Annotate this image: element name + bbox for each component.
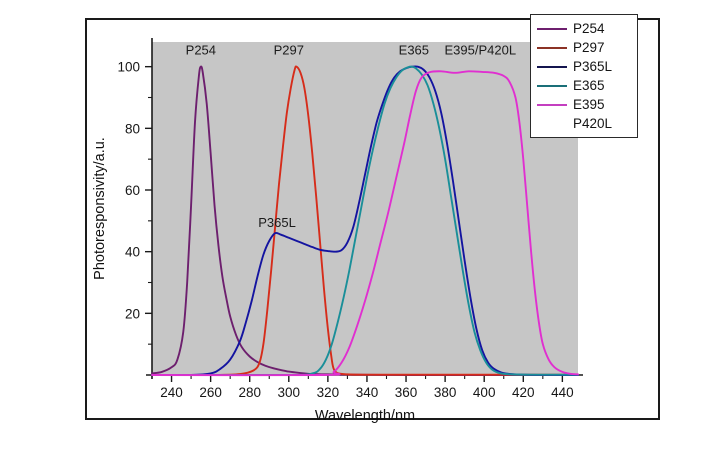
legend-item-p365l[interactable]: P365L	[535, 57, 633, 76]
x-tick-label: 380	[434, 385, 457, 400]
annotation-e365: E365	[399, 42, 429, 57]
y-axis-title: Photoresponsivity/a.u.	[92, 137, 108, 280]
legend-item-p420l[interactable]: P420L	[535, 114, 633, 133]
y-tick-label: 40	[125, 245, 140, 260]
x-tick-label: 300	[278, 385, 301, 400]
legend-label: P420L	[573, 117, 612, 131]
annotation-p254: P254	[186, 42, 216, 57]
y-axis-tick-labels: 20406080100	[117, 60, 140, 322]
legend-label: P297	[573, 41, 605, 55]
legend-line-swatch-p365l	[537, 66, 567, 68]
x-tick-label: 320	[317, 385, 340, 400]
x-tick-label: 400	[473, 385, 496, 400]
annotation-e395-p420l: E395/P420L	[445, 42, 517, 57]
legend: P254P297P365LE365E395P420L	[530, 14, 638, 138]
figure-canvas: 240260280300320340360380400420440 204060…	[0, 0, 726, 450]
annotation-p297: P297	[274, 42, 304, 57]
annotation-p365l: P365L	[258, 215, 296, 230]
legend-item-e365[interactable]: E365	[535, 76, 633, 95]
legend-label: E395	[573, 98, 605, 112]
legend-line-swatch-p254	[537, 28, 567, 30]
x-tick-label: 240	[160, 385, 183, 400]
x-axis-tick-labels: 240260280300320340360380400420440	[160, 385, 573, 400]
x-axis-title: Wavelength/nm	[315, 408, 415, 424]
y-tick-label: 60	[125, 183, 140, 198]
legend-label: E365	[573, 79, 605, 93]
x-tick-label: 440	[551, 385, 574, 400]
legend-line-swatch-e395	[537, 104, 567, 106]
x-tick-label: 420	[512, 385, 535, 400]
y-tick-label: 80	[125, 121, 140, 136]
legend-label: P254	[573, 22, 605, 36]
legend-label: P365L	[573, 60, 612, 74]
x-tick-label: 280	[238, 385, 261, 400]
x-tick-label: 260	[199, 385, 222, 400]
x-tick-label: 360	[395, 385, 418, 400]
legend-line-swatch-p297	[537, 47, 567, 49]
x-tick-label: 340	[356, 385, 379, 400]
legend-line-swatch-p420l	[537, 123, 567, 125]
legend-line-swatch-e365	[537, 85, 567, 87]
legend-item-p254[interactable]: P254	[535, 19, 633, 38]
y-tick-label: 100	[117, 60, 140, 75]
y-tick-label: 20	[125, 306, 140, 321]
legend-item-e395[interactable]: E395	[535, 95, 633, 114]
y-axis-ticks	[145, 67, 152, 345]
legend-item-p297[interactable]: P297	[535, 38, 633, 57]
